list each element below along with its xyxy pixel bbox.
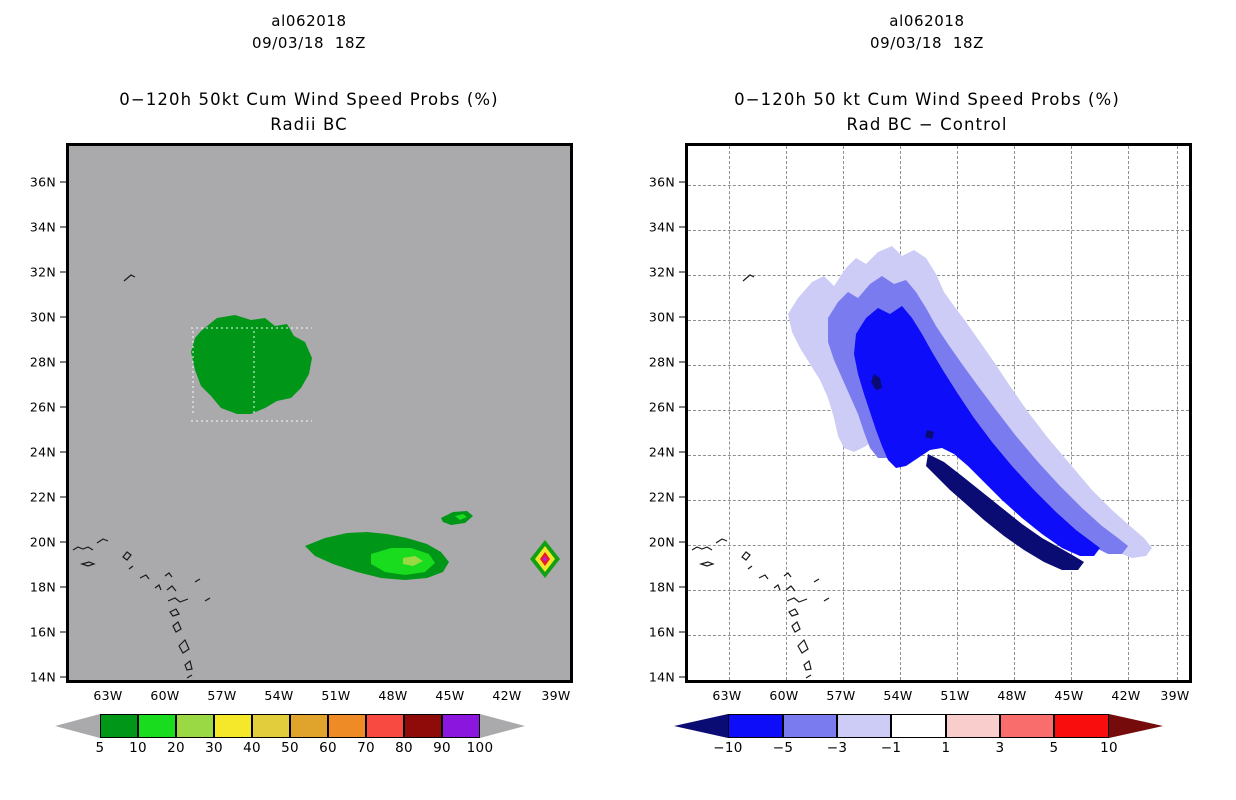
right-datetime: 09/03/18 18Z xyxy=(618,32,1236,54)
y-tick-mark xyxy=(60,632,66,633)
y-tick-mark xyxy=(679,542,685,543)
y-tick-label: 30N xyxy=(20,310,56,325)
colorbar-segment xyxy=(100,714,138,738)
y-tick-mark xyxy=(679,497,685,498)
y-tick-mark xyxy=(679,182,685,183)
colorbar-segment xyxy=(728,714,783,738)
colorbar-segment xyxy=(252,714,290,738)
y-tick-label: 20N xyxy=(639,535,675,550)
y-tick-mark xyxy=(60,272,66,273)
colorbar-tick-label: −1 xyxy=(881,740,902,756)
right-panel: al062018 09/03/18 18Z 0−120h 50 kt Cum W… xyxy=(618,0,1236,800)
y-tick-label: 26N xyxy=(639,400,675,415)
right-panel-subtitles: 0−120h 50 kt Cum Wind Speed Probs (%) Ra… xyxy=(618,87,1236,137)
x-tick-label: 57W xyxy=(207,688,236,703)
x-tick-label: 63W xyxy=(93,688,122,703)
right-map-graphics xyxy=(688,146,1189,680)
colorbar-tick-label: −5 xyxy=(773,740,794,756)
y-tick-mark xyxy=(679,317,685,318)
right-map-plot xyxy=(685,143,1192,683)
y-tick-label: 22N xyxy=(20,490,56,505)
y-tick-label: 28N xyxy=(639,355,675,370)
y-tick-label: 26N xyxy=(20,400,56,415)
colorbar-tick-label: −3 xyxy=(827,740,848,756)
y-tick-label: 36N xyxy=(639,175,675,190)
y-tick-mark xyxy=(60,182,66,183)
colorbar-segment xyxy=(1054,714,1109,738)
colorbar-segment xyxy=(442,714,480,738)
x-tick-label: 39W xyxy=(541,688,570,703)
x-tick-label: 54W xyxy=(883,688,912,703)
x-tick-label: 39W xyxy=(1160,688,1189,703)
right-colorbar: −10 −5 −3 −1 1 3 5 10 xyxy=(674,714,1174,738)
prob-contour-5-north xyxy=(191,315,312,421)
left-map-canvas xyxy=(66,143,573,683)
y-tick-mark xyxy=(679,452,685,453)
y-tick-label: 24N xyxy=(639,445,675,460)
x-tick-label: 51W xyxy=(321,688,350,703)
right-map-canvas xyxy=(685,143,1192,683)
colorbar-tick-label: 90 xyxy=(433,740,451,756)
colorbar-tick-label: 10 xyxy=(129,740,147,756)
colorbar-segment xyxy=(328,714,366,738)
storm-position-marker xyxy=(530,540,560,578)
colorbar-segment xyxy=(1000,714,1054,738)
y-tick-mark xyxy=(679,587,685,588)
x-tick-label: 45W xyxy=(1054,688,1083,703)
colorbar-segment xyxy=(783,714,837,738)
y-tick-label: 32N xyxy=(20,265,56,280)
colorbar-tick-label: 1 xyxy=(942,740,951,756)
colorbar-segment xyxy=(837,714,891,738)
colorbar-tick-label: 100 xyxy=(467,740,494,756)
colorbar-tick-label: 70 xyxy=(357,740,375,756)
y-tick-mark xyxy=(60,452,66,453)
x-tick-label: 48W xyxy=(378,688,407,703)
y-tick-mark xyxy=(679,632,685,633)
colorbar-tick-label: 60 xyxy=(319,740,337,756)
x-tick-label: 63W xyxy=(712,688,741,703)
colorbar-low-arrow xyxy=(674,714,728,738)
prob-contour-5-speck xyxy=(441,511,473,525)
y-tick-mark xyxy=(60,542,66,543)
colorbar-high-arrow xyxy=(480,714,525,738)
colorbar-low-arrow xyxy=(55,714,100,738)
y-tick-label: 14N xyxy=(639,670,675,685)
y-tick-mark xyxy=(679,272,685,273)
y-tick-mark xyxy=(679,227,685,228)
colorbar-segment xyxy=(366,714,404,738)
y-tick-mark xyxy=(679,677,685,678)
colorbar-segment xyxy=(946,714,1000,738)
x-tick-label: 51W xyxy=(940,688,969,703)
right-subtitle: Rad BC − Control xyxy=(618,112,1236,137)
colorbar-tick-label: 5 xyxy=(1050,740,1059,756)
colorbar-tick-label: 80 xyxy=(395,740,413,756)
colorbar-segment xyxy=(176,714,214,738)
x-tick-label: 60W xyxy=(769,688,798,703)
left-panel: al062018 09/03/18 18Z 0−120h 50kt Cum Wi… xyxy=(0,0,618,800)
left-subtitle: Radii BC xyxy=(0,112,618,137)
left-datetime: 09/03/18 18Z xyxy=(0,32,618,54)
y-tick-label: 24N xyxy=(20,445,56,460)
y-tick-label: 20N xyxy=(20,535,56,550)
colorbar-tick-label: 20 xyxy=(167,740,185,756)
y-tick-label: 18N xyxy=(639,580,675,595)
left-map-graphics xyxy=(69,146,570,680)
colorbar-tick-label: 10 xyxy=(1100,740,1118,756)
y-tick-label: 14N xyxy=(20,670,56,685)
y-tick-label: 32N xyxy=(639,265,675,280)
colorbar-tick-label: 50 xyxy=(281,740,299,756)
y-tick-mark xyxy=(60,677,66,678)
right-storm-id: al062018 xyxy=(618,10,1236,32)
y-tick-label: 16N xyxy=(639,625,675,640)
y-tick-label: 36N xyxy=(20,175,56,190)
x-tick-label: 45W xyxy=(435,688,464,703)
colorbar-segment xyxy=(404,714,442,738)
x-tick-label: 48W xyxy=(997,688,1026,703)
y-tick-label: 34N xyxy=(20,220,56,235)
y-tick-mark xyxy=(60,587,66,588)
colorbar-tick-label: 30 xyxy=(205,740,223,756)
left-title: 0−120h 50kt Cum Wind Speed Probs (%) xyxy=(0,87,618,112)
y-tick-mark xyxy=(60,317,66,318)
x-tick-label: 42W xyxy=(1111,688,1140,703)
y-tick-mark xyxy=(679,362,685,363)
x-tick-label: 57W xyxy=(826,688,855,703)
y-tick-label: 18N xyxy=(20,580,56,595)
left-map-plot xyxy=(66,143,573,683)
x-tick-label: 60W xyxy=(150,688,179,703)
x-tick-label: 54W xyxy=(264,688,293,703)
left-storm-id: al062018 xyxy=(0,10,618,32)
y-tick-label: 34N xyxy=(639,220,675,235)
colorbar-segment xyxy=(290,714,328,738)
colorbar-tick-label: 40 xyxy=(243,740,261,756)
left-panel-subtitles: 0−120h 50kt Cum Wind Speed Probs (%) Rad… xyxy=(0,87,618,137)
y-tick-label: 30N xyxy=(639,310,675,325)
x-tick-label: 42W xyxy=(492,688,521,703)
right-panel-titles: al062018 09/03/18 18Z xyxy=(618,10,1236,54)
y-tick-mark xyxy=(60,227,66,228)
colorbar-segment xyxy=(138,714,176,738)
y-tick-mark xyxy=(60,362,66,363)
left-panel-titles: al062018 09/03/18 18Z xyxy=(0,10,618,54)
right-title: 0−120h 50 kt Cum Wind Speed Probs (%) xyxy=(618,87,1236,112)
colorbar-tick-label: −10 xyxy=(713,740,742,756)
y-tick-mark xyxy=(60,407,66,408)
colorbar-high-arrow xyxy=(1109,714,1163,738)
y-tick-mark xyxy=(60,497,66,498)
y-tick-label: 22N xyxy=(639,490,675,505)
coastline-left xyxy=(73,275,210,678)
y-tick-mark xyxy=(679,407,685,408)
y-tick-label: 16N xyxy=(20,625,56,640)
colorbar-tick-label: 5 xyxy=(96,740,105,756)
colorbar-segment xyxy=(214,714,252,738)
gridline-horizontal xyxy=(688,680,1189,681)
colorbar-segment xyxy=(891,714,946,738)
prob-contour-5-southeast xyxy=(305,532,449,580)
left-colorbar: 5 10 20 30 40 50 60 70 80 90 100 xyxy=(55,714,555,738)
colorbar-tick-label: 3 xyxy=(996,740,1005,756)
y-tick-label: 28N xyxy=(20,355,56,370)
